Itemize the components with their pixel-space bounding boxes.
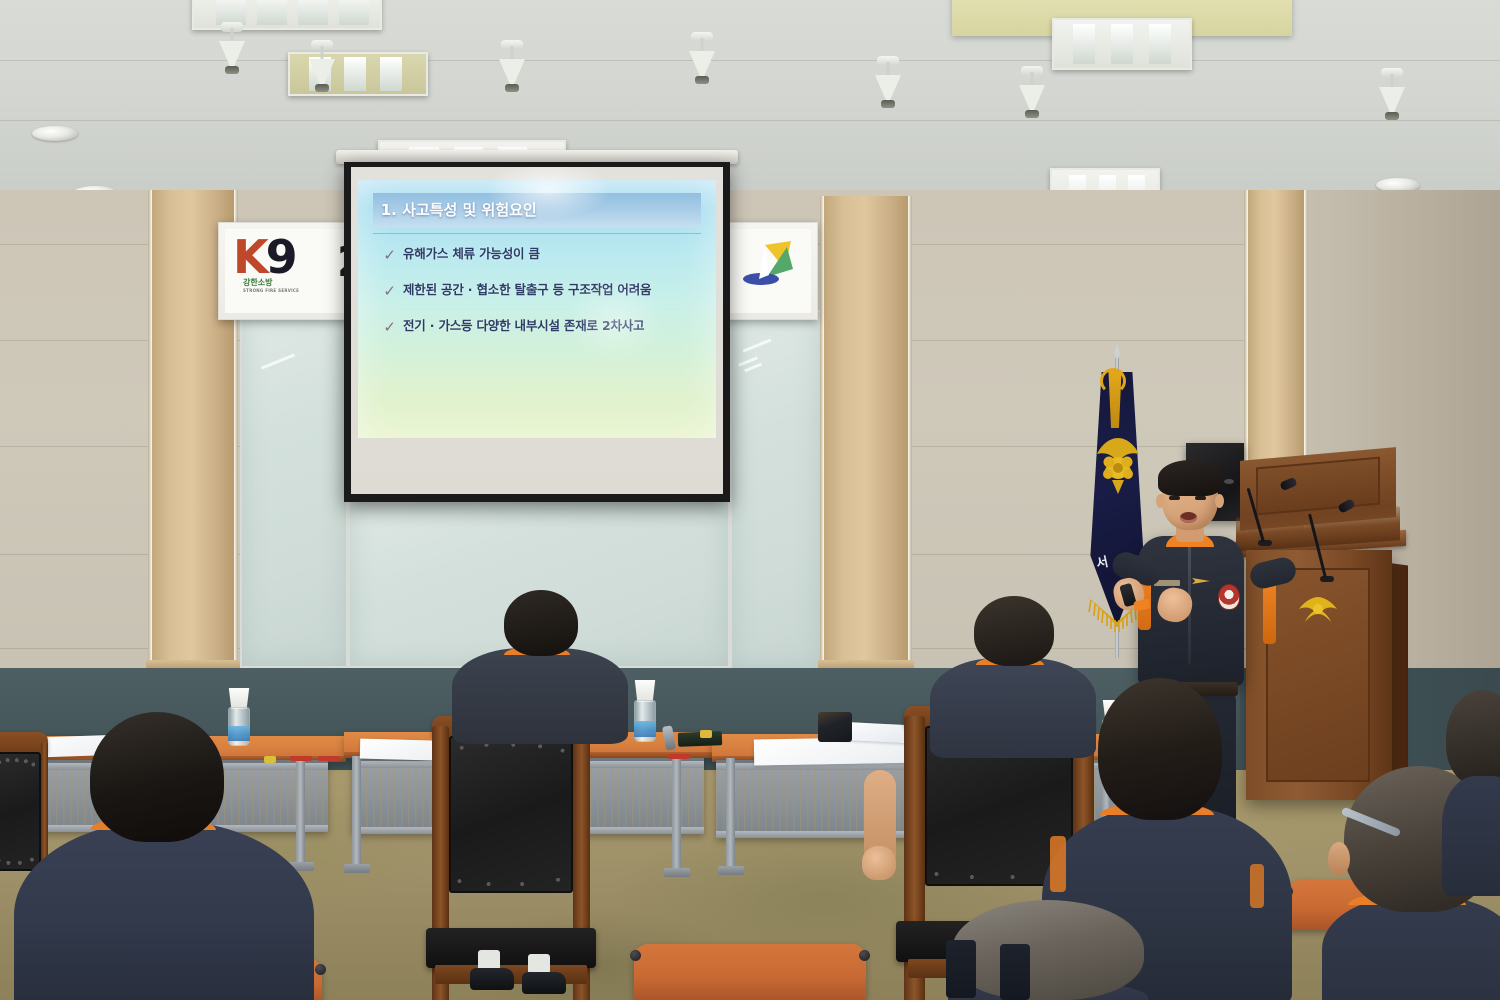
k9-logo-letter-k: K (233, 230, 266, 284)
whiteboard-center (730, 310, 822, 670)
attendee-shoulder-stripe (1050, 836, 1066, 892)
paper-cup[interactable] (632, 680, 658, 702)
attendee-shoulder-stripe (1250, 864, 1264, 908)
slide-bullet-text: 전기 · 가스등 다양한 내부시설 존재로 2차사고 (403, 319, 644, 333)
slide-bullet-item: ✓ 유해가스 체류 가능성이 큼 (383, 247, 704, 263)
attendee-hair (1098, 678, 1222, 820)
attendee-torso (14, 820, 314, 1000)
attendee-hair (504, 590, 578, 656)
attendee-hair (952, 900, 1144, 1000)
table-clamp (318, 756, 340, 761)
handheld-device[interactable] (818, 712, 852, 742)
slide-bullet-text: 제한된 공간 · 협소한 탈출구 등 구조작업 어려움 (403, 283, 651, 297)
table-leg (672, 756, 681, 872)
attendee-ear (1328, 842, 1350, 876)
government-logo (735, 239, 799, 291)
presenter-hair (1158, 460, 1222, 496)
presenter-unit-badge (1218, 584, 1240, 610)
attendee-back-left (452, 590, 628, 740)
slide-title-bar: 1. 사고특성 및 위험요인 (373, 193, 702, 227)
attendee-front-left (14, 712, 314, 1000)
attendee-hair (1446, 690, 1500, 786)
table-foot (664, 868, 690, 877)
attendee-legs (946, 940, 976, 998)
lectern-eagle-emblem-icon (1298, 594, 1338, 624)
k9-logo: K9 강한소방 STRONG FIRE SERVICE (233, 235, 329, 293)
attendee-shoe (522, 972, 566, 994)
slide-bullet-item: ✓ 전기 · 가스등 다양한 내부시설 존재로 2차사고 (383, 319, 704, 335)
fluorescent-panel (1052, 18, 1192, 70)
slide-bullet-item: ✓ 제한된 공간 · 협소한 탈출구 등 구조작업 어려움 (383, 283, 704, 299)
wooden-chair[interactable] (432, 716, 590, 984)
orange-chair[interactable] (634, 944, 866, 1000)
presenter-ear (1156, 494, 1165, 508)
attendee-hair (90, 712, 224, 842)
wood-column (824, 196, 908, 670)
attendee-shoe (470, 968, 514, 990)
k9-logo-subtitle-roman: STRONG FIRE SERVICE (243, 288, 299, 293)
k9-logo-subtitle-ko: 강한소방 (243, 278, 272, 287)
slide-bullet-list: ✓ 유해가스 체류 가능성이 큼 ✓ 제한된 공간 · 협소한 탈출구 등 구조… (383, 247, 704, 355)
gooseneck-microphone[interactable] (1320, 496, 1368, 582)
table-foot (718, 866, 744, 875)
attendee-legs (1000, 944, 1030, 1000)
table-leg (352, 756, 361, 868)
flag-cord (1100, 368, 1126, 394)
attendee-right-edge (1446, 690, 1500, 890)
slide-divider (373, 233, 702, 234)
attendee-sock (528, 954, 550, 974)
table-foot (344, 864, 370, 873)
k9-logo-subtitle: 강한소방 STRONG FIRE SERVICE (243, 277, 299, 293)
attendee-hand (862, 846, 896, 880)
attendee-torso (1442, 776, 1500, 896)
flag-finial-icon (1108, 344, 1126, 362)
slide-title: 1. 사고특성 및 위험요인 (373, 199, 537, 220)
checkmark-icon: ✓ (383, 320, 396, 335)
k9-logo-digit-9: 9 (266, 230, 295, 284)
presenter-mouth (1180, 512, 1197, 523)
presenter-ear (1215, 494, 1224, 508)
projection-screen: 1. 사고특성 및 위험요인 ✓ 유해가스 체류 가능성이 큼 ✓ 제한된 공간… (344, 162, 730, 502)
whiteboard-left (240, 312, 348, 668)
lecture-hall-photo: K9 강한소방 STRONG FIRE SERVICE 201 회 1. (0, 0, 1500, 1000)
table-leg (726, 758, 735, 872)
attendee-hair (974, 596, 1054, 666)
paper-cup[interactable] (226, 688, 252, 709)
presentation-slide: 1. 사고특성 및 위험요인 ✓ 유해가스 체류 가능성이 큼 ✓ 제한된 공간… (358, 180, 715, 438)
recessed-light (32, 126, 78, 141)
slide-bullet-text: 유해가스 체류 가능성이 큼 (403, 247, 540, 261)
checkmark-icon: ✓ (383, 284, 396, 299)
water-bottle[interactable] (634, 680, 656, 742)
ceiling (0, 0, 1500, 200)
checkmark-icon: ✓ (383, 248, 396, 263)
yellow-sticker (700, 730, 712, 738)
attendee-torso (452, 648, 628, 744)
table-clamp (668, 754, 690, 759)
